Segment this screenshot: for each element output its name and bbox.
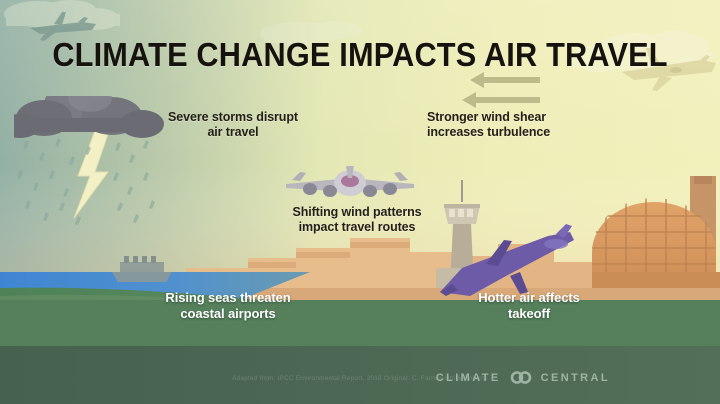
- label-severe-storms: Severe storms disrupt air travel: [133, 110, 333, 141]
- infographic-canvas: CLIMATE CHANGE IMPACTS AIR TRAVEL Severe…: [0, 0, 720, 404]
- climate-central-rings-icon: [508, 371, 534, 384]
- label-rising-seas: Rising seas threaten coastal airports: [128, 290, 328, 322]
- label-hotter-air: Hotter air affects takeoff: [434, 290, 624, 322]
- climate-central-logo: CLIMATE CENTRAL: [436, 371, 610, 384]
- label-wind-patterns: Shifting wind patterns impact travel rou…: [262, 205, 452, 236]
- page-title: CLIMATE CHANGE IMPACTS AIR TRAVEL: [25, 36, 695, 74]
- logo-text-left: CLIMATE: [436, 372, 501, 384]
- label-wind-shear: Stronger wind shear increases turbulence: [427, 110, 637, 141]
- logo-text-right: CENTRAL: [541, 372, 610, 384]
- source-credit: Adapted from: IPCC Environmental Report,…: [0, 375, 720, 382]
